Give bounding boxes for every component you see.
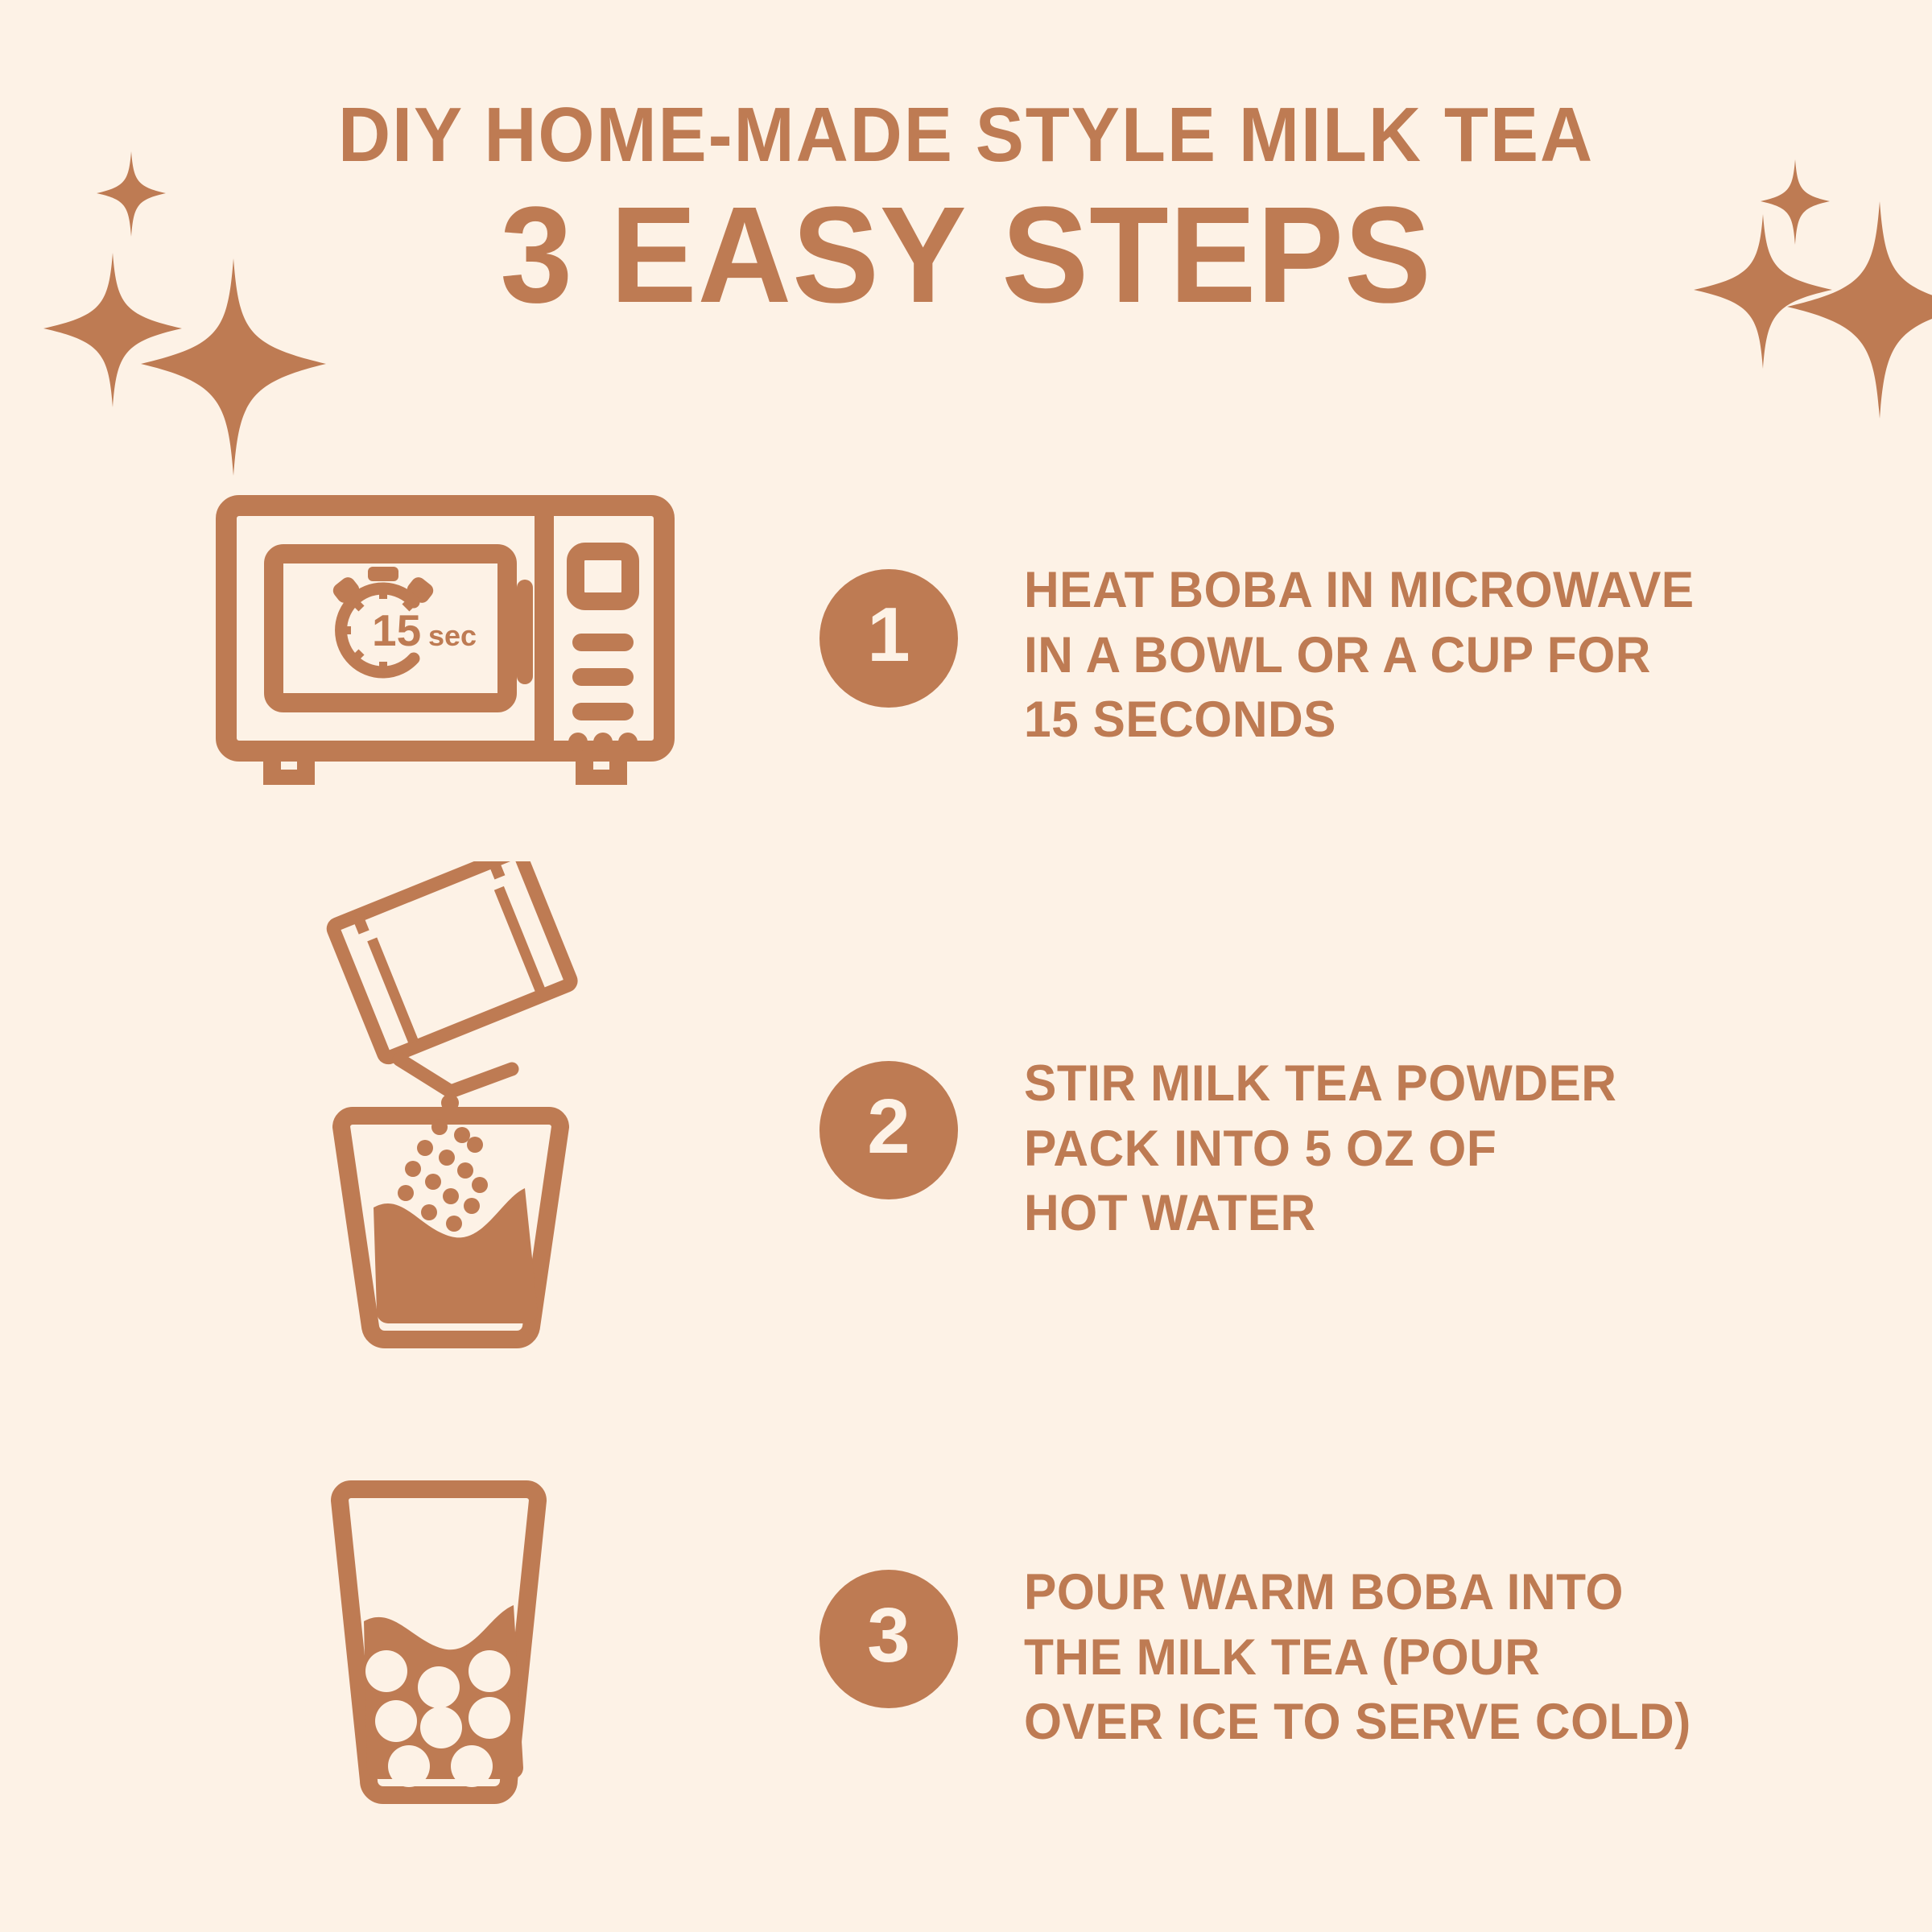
microwave-icon: 15 sec [216,495,675,785]
step-number-badge-2: 2 [819,1061,958,1199]
step-description-2: STIR MILK TEA POWDER PACK INTO 5 OZ OF H… [1024,1051,1616,1246]
poster-header: DIY HOME-MADE STYLE MILK TEA 3 EASY STEP… [0,97,1932,330]
step-number-badge-3: 3 [819,1570,958,1708]
step-description-3: POUR WARM BOBA INTO THE MILK TEA (POUR O… [1024,1560,1691,1755]
page-title: 3 EASY STEPS [48,182,1884,330]
boba-glass-icon [322,1480,555,1818]
step-number-badge-1: 1 [819,569,958,708]
infographic-poster: DIY HOME-MADE STYLE MILK TEA 3 EASY STEP… [0,0,1932,1932]
step-number-2: 2 [867,1088,910,1166]
step-number-1: 1 [867,597,910,674]
powder-pack-into-glass-icon [322,861,580,1352]
step-number-3: 3 [867,1597,910,1674]
timer-value: 15 [372,605,421,655]
step-description-1: HEAT BOBA IN MICROWAVE IN A BOWL OR A CU… [1024,558,1695,753]
page-subtitle: DIY HOME-MADE STYLE MILK TEA [58,97,1874,174]
timer-unit: sec [428,619,477,652]
